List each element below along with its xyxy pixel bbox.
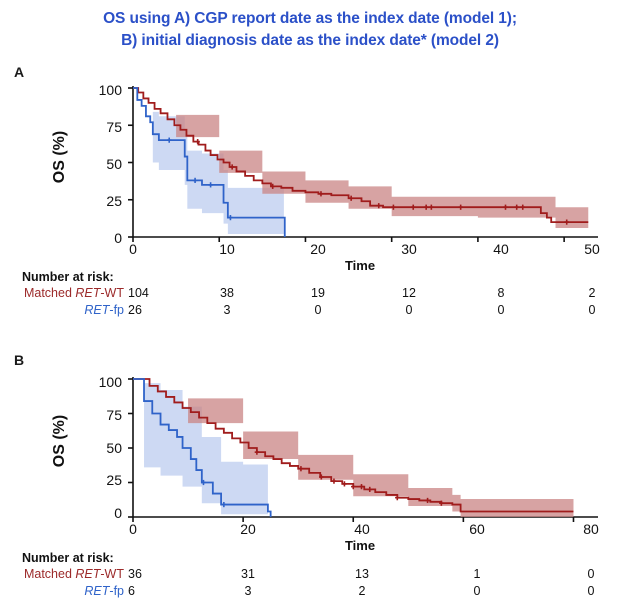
panel-b-risk-fp-40: 2 [347, 584, 377, 598]
panel-b-risk-heading: Number at risk: [22, 551, 114, 565]
panel-b-risk-label-matched-ret-wt: Matched RET-WT [0, 567, 124, 581]
panel-b-risk-fp-20: 3 [233, 584, 263, 598]
panel-b-risk-wt-60: 1 [462, 567, 492, 581]
panel-b-plot [0, 0, 620, 612]
panel-b-risk-wt-80: 0 [576, 567, 606, 581]
panel-b-risk-fp-60: 0 [462, 584, 492, 598]
panel-b-risk-fp-80: 0 [576, 584, 606, 598]
panel-b-risk-wt-20: 31 [233, 567, 263, 581]
panel-b-risk-wt-40: 13 [347, 567, 377, 581]
panel-b-risk-fp-0: 6 [128, 584, 162, 598]
panel-b-risk-label-ret-fp: RET-fp [0, 584, 124, 598]
figure-root: OS using A) CGP report date as the index… [0, 0, 620, 612]
panel-b-risk-wt-0: 36 [128, 567, 162, 581]
